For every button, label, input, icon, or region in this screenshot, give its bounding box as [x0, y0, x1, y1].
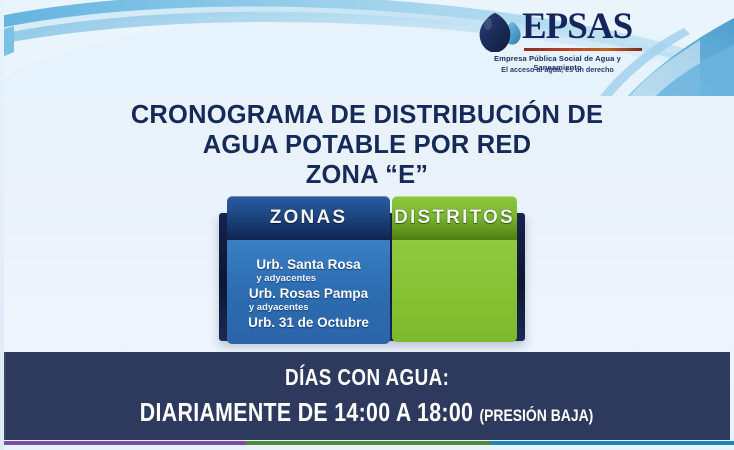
table-cell-zonas: Urb. Santa Rosa y adyacentes Urb. Rosas … — [227, 240, 390, 344]
logo-tagline: El acceso al agua, es un derecho — [470, 65, 645, 74]
table-header-zonas-label: ZONAS — [270, 207, 348, 229]
bottom-color-strip — [0, 441, 734, 445]
zone-qualifier: y adyacentes — [249, 302, 368, 314]
table-column-distritos: DISTRITOS — [392, 196, 517, 342]
list-item: Urb. Rosas Pampa y adyacentes — [249, 285, 368, 314]
water-days-banner: DÍAS CON AGUA: DIARIAMENTE DE 14:00 A 18… — [4, 352, 730, 440]
zone-name: Urb. Rosas Pampa — [249, 285, 368, 302]
banner-schedule: DIARIAMENTE DE 14:00 A 18:00 (PRESIÓN BA… — [140, 397, 594, 428]
table-header-distritos: DISTRITOS — [392, 196, 517, 240]
strip-segment-blue — [490, 441, 734, 445]
banner-heading: DÍAS CON AGUA: — [285, 364, 449, 391]
banner-pressure-note: (PRESIÓN BAJA) — [480, 406, 594, 425]
schedule-table: ZONAS Urb. Santa Rosa y adyacentes Urb. … — [219, 196, 525, 346]
epsas-logo: EPSAS Empresa Pública Social de Agua y S… — [470, 6, 645, 78]
list-item: Urb. 31 de Octubre — [248, 314, 369, 331]
left-edge-gutter — [0, 0, 4, 450]
zone-name: Urb. Santa Rosa — [256, 256, 360, 273]
strip-segment-purple — [0, 441, 246, 445]
poster-root: EPSAS Empresa Pública Social de Agua y S… — [0, 0, 734, 450]
zone-name: Urb. 31 de Octubre — [248, 314, 369, 331]
page-title-line-3: ZONA “E” — [0, 160, 734, 190]
page-title-line-2: AGUA POTABLE POR RED — [0, 130, 734, 160]
table-header-zonas: ZONAS — [227, 196, 390, 240]
strip-segment-green — [246, 441, 490, 445]
table-cell-distritos — [392, 240, 517, 342]
page-title: CRONOGRAMA DE DISTRIBUCIÓN DE AGUA POTAB… — [0, 100, 734, 190]
page-title-line-1: CRONOGRAMA DE DISTRIBUCIÓN DE — [0, 100, 734, 130]
table-column-zonas: ZONAS Urb. Santa Rosa y adyacentes Urb. … — [227, 196, 390, 342]
epsas-wordmark: EPSAS — [522, 8, 632, 45]
banner-schedule-text: DIARIAMENTE DE 14:00 A 18:00 — [140, 397, 473, 427]
list-item: Urb. Santa Rosa y adyacentes — [256, 256, 360, 285]
table-header-distritos-label: DISTRITOS — [394, 207, 515, 229]
zone-qualifier: y adyacentes — [256, 273, 360, 285]
logo-underline — [524, 48, 642, 51]
